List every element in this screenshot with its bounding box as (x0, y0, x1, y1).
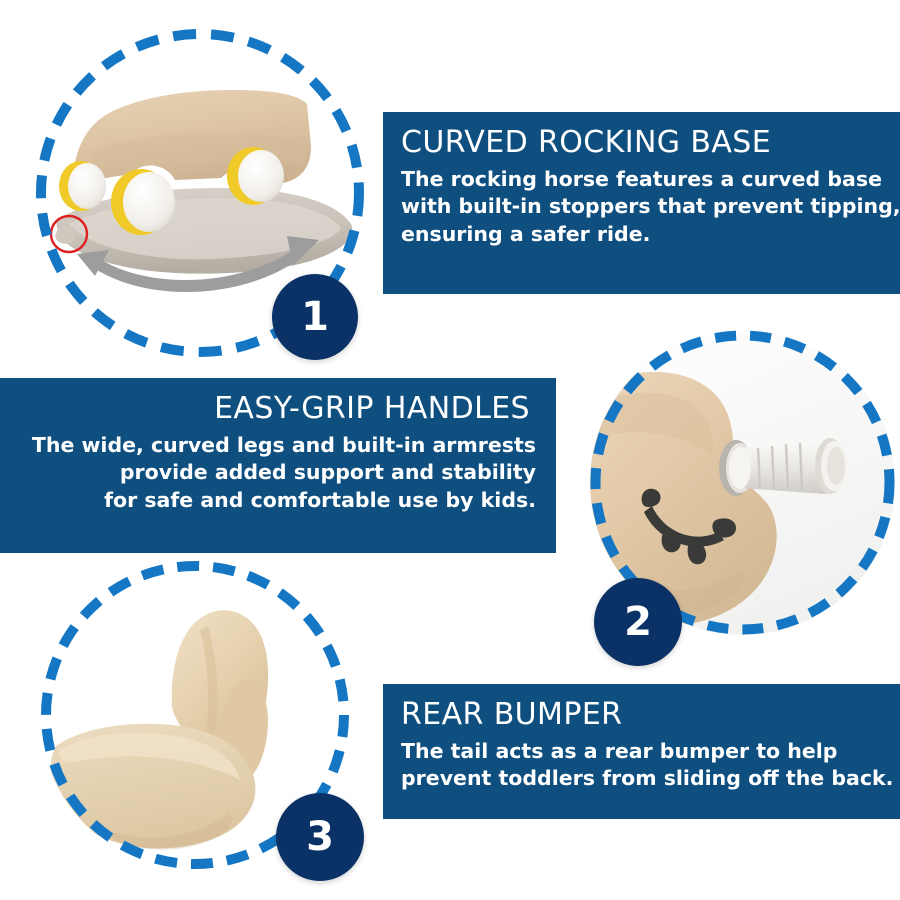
panel-body-3-line-2: prevent toddlers from sliding off the ba… (401, 765, 882, 792)
step-badge-2: 2 (594, 578, 682, 666)
panel-title-2: EASY-GRIP HANDLES (18, 392, 536, 426)
feature-panel-easy-grip-handles: EASY-GRIP HANDLES The wide, curved legs … (0, 378, 556, 553)
infographic-canvas: 1 CURVED ROCKING BASE The rocking horse … (0, 0, 900, 900)
feature-panel-rear-bumper: REAR BUMPER The tail acts as a rear bump… (383, 684, 900, 819)
feature-panel-curved-rocking-base: CURVED ROCKING BASE The rocking horse fe… (383, 112, 900, 294)
panel-body-2-line-2: provide added support and stability (18, 459, 536, 486)
panel-body-2: The wide, curved legs and built-in armre… (18, 432, 536, 514)
panel-body-1: The rocking horse features a curved base… (401, 166, 882, 248)
panel-title-3: REAR BUMPER (401, 698, 882, 732)
panel-body-3: The tail acts as a rear bumper to help p… (401, 738, 882, 793)
panel-body-3-line-1: The tail acts as a rear bumper to help (401, 738, 882, 765)
panel-body-2-line-3: for safe and comfortable use by kids. (18, 487, 536, 514)
panel-body-1-line-2: with built-in stoppers that prevent tipp… (401, 193, 882, 220)
panel-title-1: CURVED ROCKING BASE (401, 126, 882, 160)
panel-body-1-line-3: ensuring a safer ride. (401, 221, 882, 248)
step-badge-3: 3 (276, 793, 364, 881)
step-badge-1: 1 (272, 274, 358, 360)
panel-body-1-line-1: The rocking horse features a curved base (401, 166, 882, 193)
panel-body-2-line-1: The wide, curved legs and built-in armre… (18, 432, 536, 459)
